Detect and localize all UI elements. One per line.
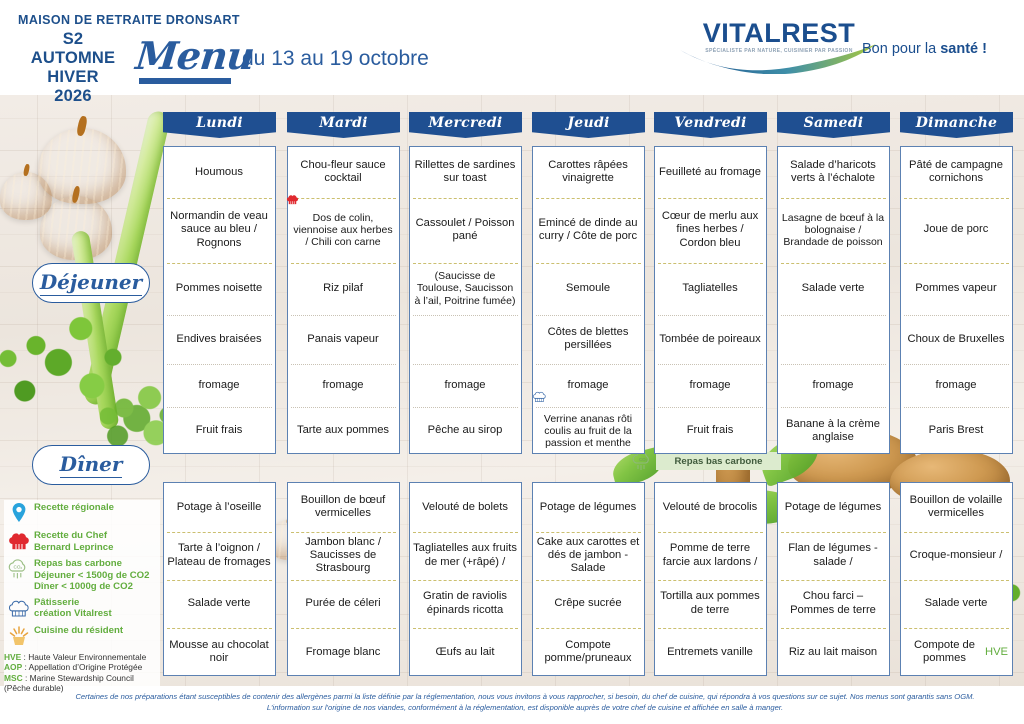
dinner-cell: Salade verte — [164, 580, 274, 628]
legend-item-low-carbon: CO₂ Repas bas carbone Déjeuner < 1500g d… — [4, 556, 160, 593]
lunch-column-dimanche: Pâté de campagne cornichonsJoue de porcP… — [900, 146, 1013, 454]
lunch-cell: fromage — [164, 364, 274, 407]
health-claim: Bon pour la santé ! — [862, 41, 987, 57]
day-header-label: Samedi — [804, 115, 864, 131]
day-header-label: Mardi — [319, 115, 368, 131]
dinner-cell: Tarte à l’oignon / Plateau de fromages — [164, 532, 274, 581]
page-title: MAISON DE RETRAITE DRONSART — [18, 13, 240, 27]
dinner-cell: Compote de pommes HVE — [901, 628, 1011, 677]
resident-cooking-icon — [4, 623, 34, 649]
co2-cloud-icon: CO₂ — [4, 556, 34, 582]
lunch-cell: Lasagne de bœuf à la bolognaise / Branda… — [778, 198, 888, 263]
dinner-cell: Purée de céleri — [288, 580, 398, 628]
lunch-cell: fromage — [778, 364, 888, 407]
dinner-cell: Tagliatelles aux fruits de mer (+râpé) / — [410, 532, 520, 581]
legend-item-label: Repas bas carbone Déjeuner < 1500g de CO… — [34, 556, 149, 593]
lunch-cell: Pommes noisette — [164, 263, 274, 315]
legend: Recette régionale Recette du Chef Bernar… — [4, 500, 160, 693]
lunch-cell: Salade d’haricots verts à l’échalote — [778, 147, 888, 198]
hve-badge: HVE — [985, 646, 1008, 659]
health-claim-strong: santé ! — [940, 41, 987, 57]
dinner-cell: Bouillon de volaille vermicelles — [901, 483, 1011, 532]
lunch-column-mercredi: Rillettes de sardines sur toastCassoulet… — [409, 146, 522, 454]
swoosh-icon — [678, 42, 878, 74]
lunch-cell — [778, 315, 888, 364]
abbrev-meaning: : Haute Valeur Environnementale — [21, 652, 146, 662]
legend-item-label: Pâtisserie création Vitalrest — [34, 595, 112, 620]
lunch-cell: Salade verte — [778, 263, 888, 315]
dinner-cell: Œufs au lait — [410, 628, 520, 677]
dinner-cell: Fromage blanc — [288, 628, 398, 677]
meal-label-lunch: Déjeuner — [32, 263, 150, 303]
dinner-cell: Jambon blanc / Saucisses de Strasbourg — [288, 532, 398, 581]
chef-hat-icon — [284, 192, 301, 207]
svg-text:CO₂: CO₂ — [639, 457, 648, 462]
lunch-cell: Carottes râpées vinaigrette — [533, 147, 643, 198]
location-pin-icon — [4, 500, 34, 526]
dinner-cell: Crêpe sucrée — [533, 580, 643, 628]
lunch-column-vendredi: Feuilleté au fromageCœur de merlu aux fi… — [654, 146, 767, 454]
pastry-chef-icon — [530, 388, 549, 405]
chef-hat-icon — [4, 528, 34, 554]
lunch-cell: Tombée de poireaux — [655, 315, 765, 364]
lunch-cell: Joue de porc — [901, 198, 1011, 263]
season-block: S2 AUTOMNE HIVER 2026 — [14, 30, 132, 106]
vitalrest-logo: VITALREST SPÉCIALISTE PAR NATURE, CUISIN… — [686, 18, 872, 74]
lunch-cell: fromage — [288, 364, 398, 407]
dinner-cell: Mousse au chocolat noir — [164, 628, 274, 677]
dinner-cell: Velouté de bolets — [410, 483, 520, 532]
lunch-cell: Verrine ananas rôti coulis au fruit de l… — [533, 407, 643, 455]
lunch-column-samedi: Salade d’haricots verts à l’échaloteLasa… — [777, 146, 890, 454]
abbrev-row: HVE : Haute Valeur Environnementale — [4, 652, 160, 662]
dinner-cell: Riz au lait maison — [778, 628, 888, 677]
day-header-label: Mercredi — [428, 115, 502, 131]
footer-disclaimer: Certaines de nos préparations étant susc… — [60, 691, 990, 713]
season-line: S2 — [14, 30, 132, 49]
dinner-cell: Gratin de raviolis épinards ricotta — [410, 580, 520, 628]
lunch-cell — [410, 315, 520, 364]
lunch-cell: Pommes vapeur — [901, 263, 1011, 315]
lunch-cell: Tarte aux pommes — [288, 407, 398, 455]
dinner-cell: Potage de légumes — [533, 483, 643, 532]
lunch-cell: Chou-fleur sauce cocktail — [288, 147, 398, 198]
lunch-cell: Pêche au sirop — [410, 407, 520, 455]
dinner-cell: Tortilla aux pommes de terre — [655, 580, 765, 628]
lunch-cell: fromage — [410, 364, 520, 407]
dinner-cell: Velouté de brocolis — [655, 483, 765, 532]
health-claim-prefix: Bon pour la — [862, 41, 940, 57]
lunch-cell: Rillettes de sardines sur toast — [410, 147, 520, 198]
lunch-cell: Semoule — [533, 263, 643, 315]
legend-item-resident-cooking: Cuisine du résident — [4, 623, 160, 649]
legend-item-chef-recipe: Recette du Chef Bernard Leprince — [4, 528, 160, 554]
dinner-cell: Entremets vanille — [655, 628, 765, 677]
dinner-cell: Salade verte — [901, 580, 1011, 628]
legend-abbreviations: HVE : Haute Valeur Environnementale AOP … — [4, 652, 160, 694]
menu-heading: Menu — [134, 33, 256, 78]
lunch-cell: Paris Brest — [901, 407, 1011, 455]
dinner-cell: Croque-monsieur / — [901, 532, 1011, 581]
season-line: HIVER — [14, 68, 132, 87]
menu-date-range: du 13 au 19 octobre — [242, 47, 429, 71]
dinner-cell: Pomme de terre farcie aux lardons / — [655, 532, 765, 581]
dinner-column-samedi: Potage de légumesFlan de légumes - salad… — [777, 482, 890, 676]
lunch-cell: Choux de Bruxelles — [901, 315, 1011, 364]
abbrev-meaning: : Marine Stewardship Council (Pêche dura… — [4, 673, 134, 693]
abbrev-row: AOP : Appellation d’Origine Protégée — [4, 662, 160, 672]
lunch-cell: (Saucisse de Toulouse, Saucisson à l’ail… — [410, 263, 520, 315]
lunch-cell: Fruit frais — [164, 407, 274, 455]
legend-item-pastry: Pâtisserie création Vitalrest — [4, 595, 160, 621]
lunch-cell: Cœur de merlu aux fines herbes / Cordon … — [655, 198, 765, 263]
lunch-cell: fromage — [655, 364, 765, 407]
lunch-cell: Normandin de veau sauce au bleu / Rognon… — [164, 198, 274, 263]
meal-label-dinner: Dîner — [32, 445, 150, 485]
legend-item-label: Recette régionale — [34, 500, 114, 514]
lunch-cell: Feuilleté au fromage — [655, 147, 765, 198]
dinner-cell: Bouillon de bœuf vermicelles — [288, 483, 398, 532]
dinner-cell: Cake aux carottes et dés de jambon - Sal… — [533, 532, 643, 581]
dinner-cell: Compote pomme/pruneaux — [533, 628, 643, 677]
day-header-label: Jeudi — [567, 115, 609, 131]
lunch-column-mardi: Chou-fleur sauce cocktailDos de colin, v… — [287, 146, 400, 454]
day-header-label: Dimanche — [916, 115, 998, 131]
abbrev-code: HVE — [4, 652, 21, 662]
lunch-cell: Tagliatelles — [655, 263, 765, 315]
lunch-cell: Houmous — [164, 147, 274, 198]
dinner-column-lundi: Potage à l’oseilleTarte à l’oignon / Pla… — [163, 482, 276, 676]
lunch-cell: Banane à la crème anglaise — [778, 407, 888, 455]
dinner-column-mardi: Bouillon de bœuf vermicellesJambon blanc… — [287, 482, 400, 676]
lunch-cell: Dos de colin, viennoise aux herbes / Chi… — [288, 198, 398, 263]
svg-text:CO₂: CO₂ — [14, 565, 23, 570]
day-header-label: Vendredi — [674, 115, 746, 131]
legend-item-label: Cuisine du résident — [34, 623, 123, 637]
day-header-label: Lundi — [196, 115, 243, 131]
dinner-column-mercredi: Velouté de boletsTagliatelles aux fruits… — [409, 482, 522, 676]
lunch-cell: Emincé de dinde au curry / Côte de porc — [533, 198, 643, 263]
pastry-chef-icon — [4, 595, 34, 621]
lunch-cell: fromage — [533, 364, 643, 407]
abbrev-meaning: : Appellation d’Origine Protégée — [22, 662, 142, 672]
dinner-column-dimanche: Bouillon de volaille vermicellesCroque-m… — [900, 482, 1013, 676]
dinner-column-jeudi: Potage de légumesCake aux carottes et dé… — [532, 482, 645, 676]
lunch-cell: Cassoulet / Poisson pané — [410, 198, 520, 263]
lunch-cell: Côtes de blettes persillées — [533, 315, 643, 364]
dinner-cell: Potage à l’oseille — [164, 483, 274, 532]
lunch-cell: Fruit frais — [655, 407, 765, 455]
dinner-cell: Chou farci – Pommes de terre — [778, 580, 888, 628]
dinner-column-vendredi: Velouté de brocolisPomme de terre farcie… — [654, 482, 767, 676]
legend-item-regional: Recette régionale — [4, 500, 160, 526]
abbrev-code: MSC — [4, 673, 23, 683]
lunch-column-lundi: HoumousNormandin de veau sauce au bleu /… — [163, 146, 276, 454]
season-line: AUTOMNE — [14, 49, 132, 68]
lunch-cell: Endives braisées — [164, 315, 274, 364]
abbrev-code: AOP — [4, 662, 22, 672]
dinner-cell: Potage de légumes — [778, 483, 888, 532]
menu-heading-underline — [139, 78, 231, 84]
season-line: 2026 — [14, 87, 132, 106]
dinner-cell: Flan de légumes - salade / — [778, 532, 888, 581]
legend-item-label: Recette du Chef Bernard Leprince — [34, 528, 113, 553]
lunch-column-jeudi: Carottes râpées vinaigretteEmincé de din… — [532, 146, 645, 454]
lunch-cell: Riz pilaf — [288, 263, 398, 315]
lunch-cell: Pâté de campagne cornichons — [901, 147, 1011, 198]
lunch-cell: Panais vapeur — [288, 315, 398, 364]
lunch-cell: fromage — [901, 364, 1011, 407]
